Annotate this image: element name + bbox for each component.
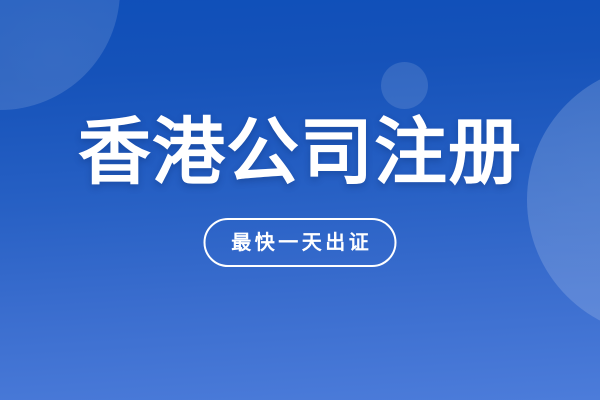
banner-content: 香港公司注册 最快一天出证 <box>0 0 600 400</box>
promo-badge: 最快一天出证 <box>204 218 397 267</box>
promo-banner: 香港公司注册 最快一天出证 <box>0 0 600 400</box>
banner-headline: 香港公司注册 <box>0 116 600 189</box>
promo-badge-label: 最快一天出证 <box>228 233 373 253</box>
